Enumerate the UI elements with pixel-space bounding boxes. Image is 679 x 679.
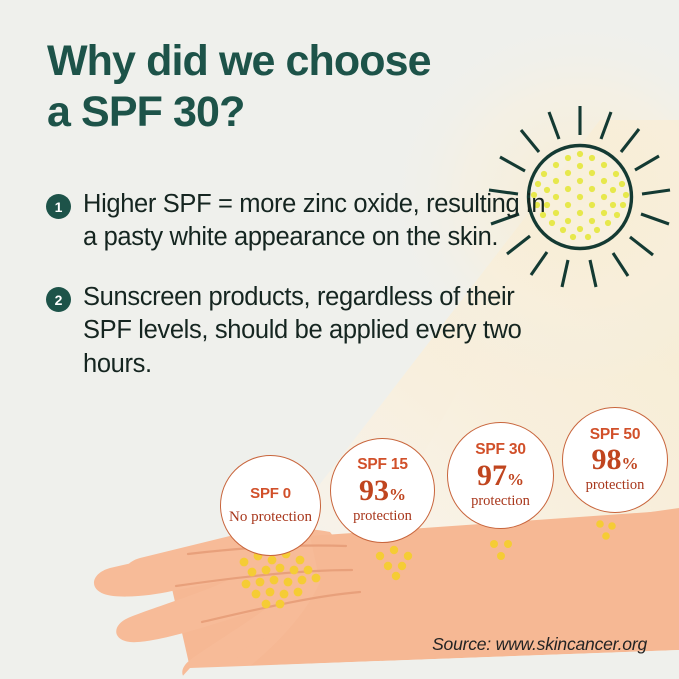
percent-symbol: % <box>389 486 406 503</box>
infographic-canvas: Why did we choose a SPF 30? 1 Higher SPF… <box>0 0 679 679</box>
spf-badge-1: SPF 15 93 % protection <box>330 438 435 543</box>
spf-badge-percent-value: 93 <box>359 476 389 506</box>
list-item-text: Higher SPF = more zinc oxide, resulting … <box>83 188 546 254</box>
spf-badge-percent: 93 % <box>359 476 406 506</box>
spf-badge-2: SPF 30 97 % protection <box>447 422 554 529</box>
spf-badge-sublabel: No protection <box>229 510 312 526</box>
percent-symbol: % <box>507 471 524 488</box>
spf-badge-percent: 98 % <box>592 445 639 475</box>
spf-badge-3: SPF 50 98 % protection <box>562 407 668 513</box>
spf-badge-sublabel: protection <box>353 509 412 524</box>
source-attribution: Source: www.skincancer.org <box>432 634 647 655</box>
list-item-number-badge: 1 <box>46 194 71 219</box>
reasons-list: 1 Higher SPF = more zinc oxide, resultin… <box>46 188 546 408</box>
list-item: 2 Sunscreen products, regardless of thei… <box>46 281 546 380</box>
spf-badge-sublabel: protection <box>586 478 645 493</box>
spf-badge-percent-value: 97 <box>477 461 507 491</box>
percent-symbol: % <box>622 455 639 472</box>
list-item-text: Sunscreen products, regardless of their … <box>83 281 546 380</box>
list-item-number-badge: 2 <box>46 287 71 312</box>
spf-badge-label: SPF 50 <box>590 427 641 443</box>
spf-badge-label: SPF 0 <box>250 486 291 501</box>
page-title: Why did we choose a SPF 30? <box>47 36 607 137</box>
spf-badge-0: SPF 0 No protection <box>220 455 321 556</box>
page-title-line-1: Why did we choose <box>47 36 607 87</box>
spf-badge-percent-value: 98 <box>592 445 622 475</box>
spf-badge-sublabel: protection <box>471 494 530 509</box>
page-title-line-2: a SPF 30? <box>47 87 607 138</box>
spf-badge-label: SPF 30 <box>475 442 526 458</box>
list-item: 1 Higher SPF = more zinc oxide, resultin… <box>46 188 546 254</box>
spf-badge-percent: 97 % <box>477 461 524 491</box>
spf-badge-label: SPF 15 <box>357 457 408 473</box>
